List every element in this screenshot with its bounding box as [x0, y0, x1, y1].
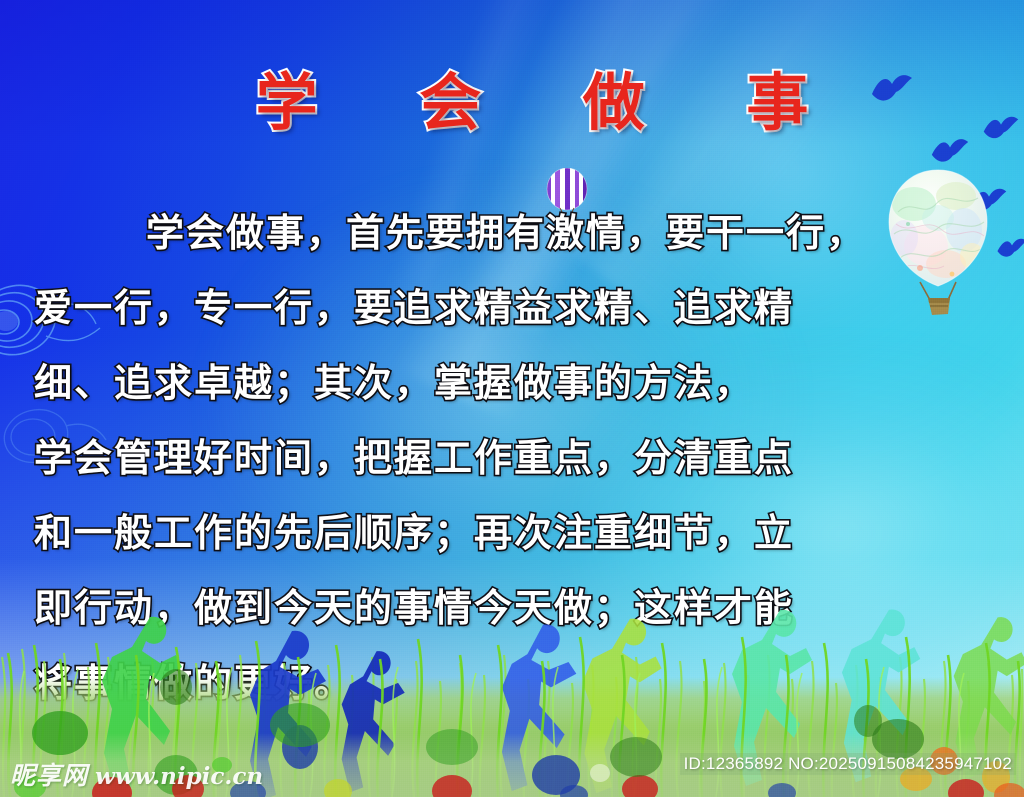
poster-canvas: 学 会 做 事 学会做事，首先要拥有激情，要干一行， 爱一行，专一行，要追求精益… [0, 0, 1024, 797]
body-line: 细、追求卓越；其次，掌握做事的方法， [34, 346, 998, 421]
watermark-url-text: www.nipic.cn [95, 763, 263, 790]
body-line: 爱一行，专一行，要追求精益求精、追求精 [34, 271, 998, 346]
watermark: 昵享网 www.nipic.cn [10, 756, 263, 792]
body-line: 学会做事，首先要拥有激情，要干一行， [34, 196, 998, 271]
bird-icon [996, 236, 1024, 262]
poster-title-text: 学 会 做 事 [216, 52, 849, 142]
body-line: 和一般工作的先后顺序；再次注重细节，立 [34, 496, 998, 571]
watermark-brand: 昵享网 [10, 756, 88, 792]
image-id-line: ID:12365892 NO:20250915084235947102 [680, 753, 1016, 775]
body-line: 学会管理好时间，把握工作重点，分清重点 [34, 421, 998, 496]
poster-title: 学 会 做 事 [0, 52, 1024, 142]
